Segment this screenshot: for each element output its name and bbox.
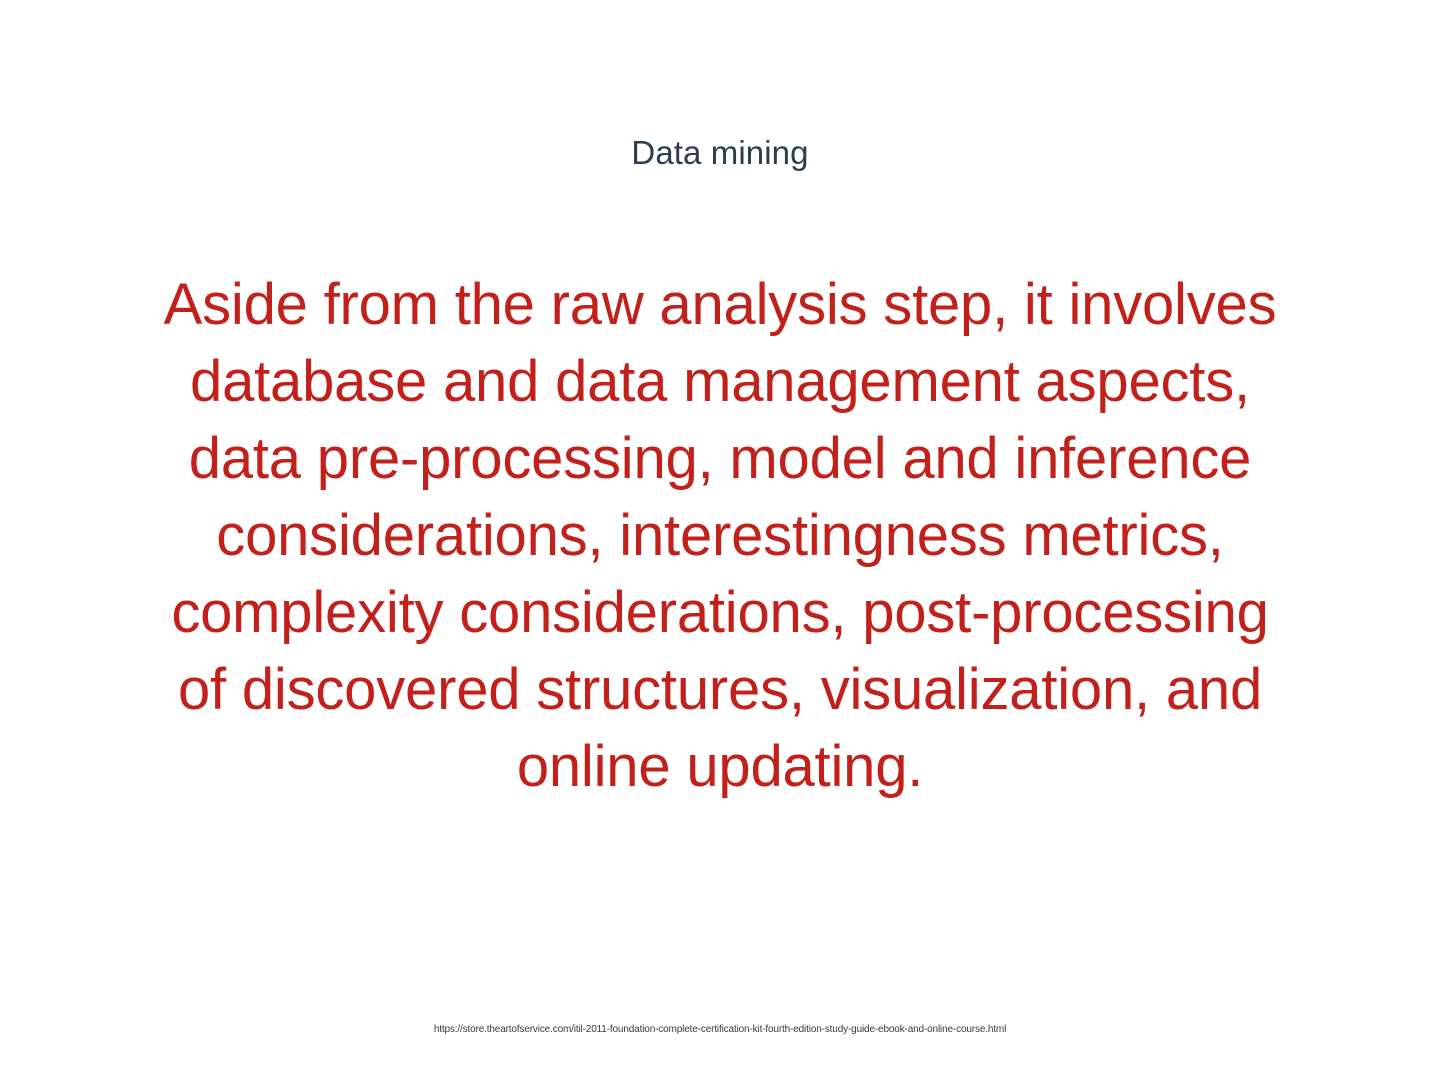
slide-canvas: Data mining Aside from the raw analysis …: [0, 0, 1440, 1080]
slide-body-text: Aside from the raw analysis step, it inv…: [140, 266, 1300, 805]
page-title: Data mining: [0, 134, 1440, 172]
footer-source-url[interactable]: https://store.theartofservice.com/itil-2…: [0, 1023, 1440, 1036]
slide-body-block: Aside from the raw analysis step, it inv…: [140, 266, 1300, 805]
